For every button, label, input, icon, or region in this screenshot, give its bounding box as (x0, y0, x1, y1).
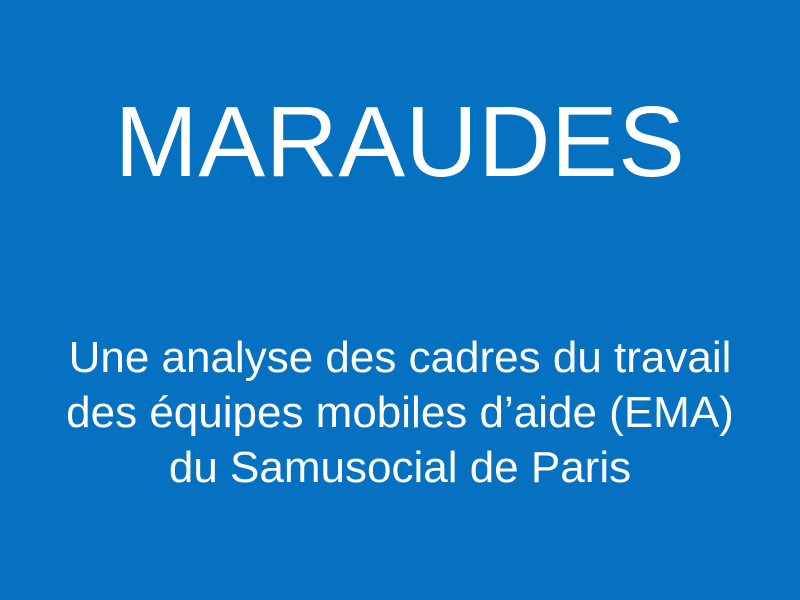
slide-title: MARAUDES (0, 92, 800, 192)
subtitle-block: Une analyse des cadres du travail des éq… (0, 330, 800, 495)
subtitle-line-1: Une analyse des cadres du travail (0, 330, 800, 385)
subtitle-line-3: du Samusocial de Paris (0, 440, 800, 495)
subtitle-line-2: des équipes mobiles d’aide (EMA) (0, 385, 800, 440)
title-block: MARAUDES (0, 92, 800, 192)
title-slide: MARAUDES Une analyse des cadres du trava… (0, 0, 800, 600)
